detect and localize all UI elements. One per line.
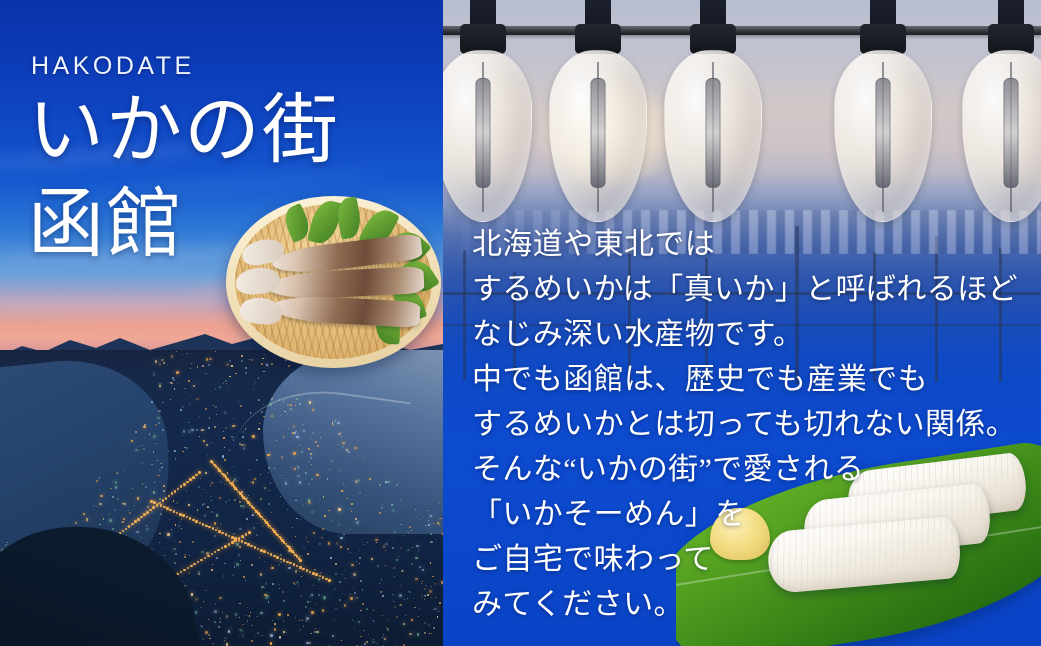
bulb-mount-rail xyxy=(443,26,1041,35)
bulb-cap xyxy=(585,0,611,26)
bulb-cap xyxy=(700,0,726,26)
bulb-filament xyxy=(706,78,721,188)
body-copy: 北海道や東北ではするめいかは「真いか」と呼ばれるほどなじみ深い水産物です。中でも… xyxy=(472,222,992,627)
cloud-streak xyxy=(0,300,220,308)
bulb-filament xyxy=(591,78,606,188)
body-copy-line: 中でも函館は、歴史でも産業でも xyxy=(472,357,992,402)
bulb-filament xyxy=(1004,78,1019,188)
body-copy-line: するめいかとは切っても切れない関係。 xyxy=(472,402,992,447)
body-copy-line: そんな“いかの街”で愛される xyxy=(472,447,992,492)
hakodate-night-view-photo xyxy=(0,350,443,646)
bulb-cap xyxy=(998,0,1024,26)
bulb-glass xyxy=(962,50,1041,222)
mast xyxy=(999,248,1002,382)
hakodate-ika-banner: HAKODATE いかの街 函館 xyxy=(0,0,1041,646)
eyebrow-hakodate: HAKODATE xyxy=(31,52,195,81)
body-copy-line: みてください。 xyxy=(472,582,992,627)
mast xyxy=(463,250,466,380)
body-copy-line: 北海道や東北では xyxy=(472,222,992,267)
squid-on-bamboo-basket-photo xyxy=(226,196,441,368)
bulb-cap xyxy=(470,0,496,26)
bulb-filament xyxy=(876,78,891,188)
body-copy-line: するめいかは「真いか」と呼ばれるほど xyxy=(472,267,992,312)
title-line-1: いかの街 xyxy=(28,89,340,173)
bulb-cap xyxy=(870,0,896,26)
left-panel: HAKODATE いかの街 函館 xyxy=(0,0,443,646)
body-copy-line: なじみ深い水産物です。 xyxy=(472,312,992,357)
body-copy-line: 「いかそーめん」を xyxy=(472,492,992,537)
bulb-filament xyxy=(476,78,491,188)
body-copy-line: ご自宅で味わって xyxy=(472,537,992,582)
